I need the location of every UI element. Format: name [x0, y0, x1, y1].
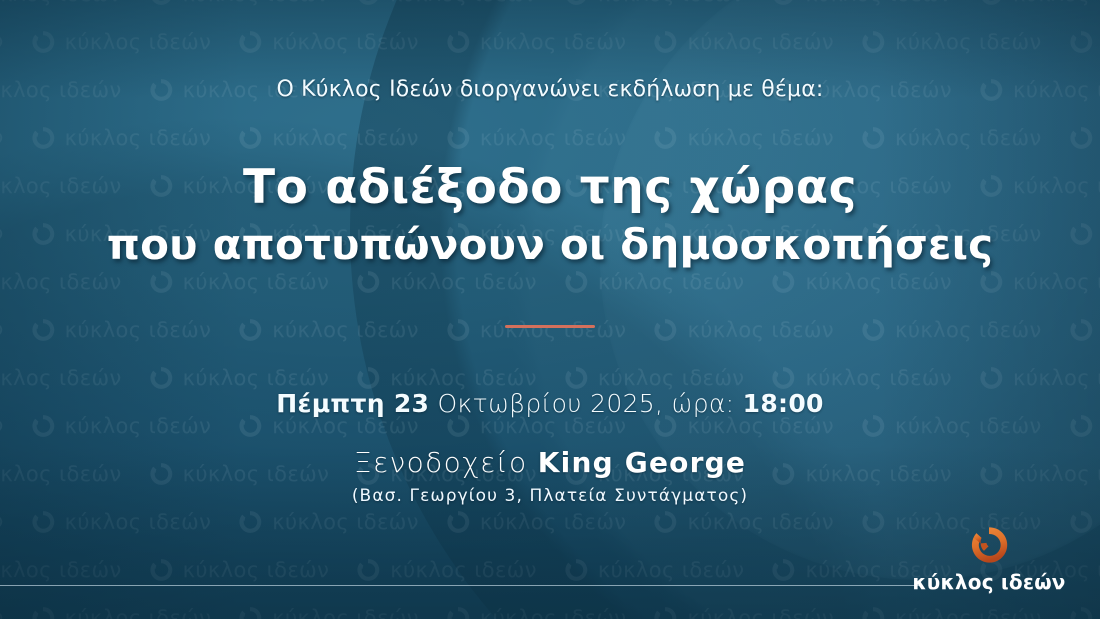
event-weekday-day: Πέμπτη 23	[276, 389, 429, 418]
poster-title: Το αδιέξοδο της χώρας που αποτυπώνουν οι…	[107, 164, 994, 267]
kyklos-ideon-spiral-mark-icon	[968, 524, 1010, 566]
poster-title-line-1: Το αδιέξοδο της χώρας	[107, 164, 994, 212]
brand-logo-text: κύκλος ιδεών	[912, 570, 1065, 594]
event-venue-line: Ξενοδοχείο King George	[354, 446, 746, 479]
poster-kicker: Ο Κύκλος Ιδεών διοργανώνει εκδήλωση με θ…	[276, 77, 823, 102]
event-address: (Βασ. Γεωργίου 3, Πλατεία Συντάγματος)	[352, 486, 748, 506]
footer-divider	[0, 585, 922, 586]
event-poster: κύκλος ιδεώνκύκλος ιδεώνκύκλος ιδεώνκύκλ…	[0, 0, 1100, 619]
accent-divider	[505, 325, 595, 328]
poster-title-line-2: που αποτυπώνουν οι δημοσκοπήσεις	[107, 224, 994, 267]
event-time: 18:00	[743, 389, 824, 418]
event-date-line: Πέμπτη 23 Οκτωβρίου 2025, ώρα: 18:00	[276, 389, 823, 418]
venue-prefix: Ξενοδοχείο	[354, 446, 538, 479]
venue-name: King George	[538, 446, 746, 479]
brand-logo: κύκλος ιδεών	[906, 524, 1072, 594]
event-month-year: Οκτωβρίου 2025, ώρα:	[429, 389, 742, 418]
